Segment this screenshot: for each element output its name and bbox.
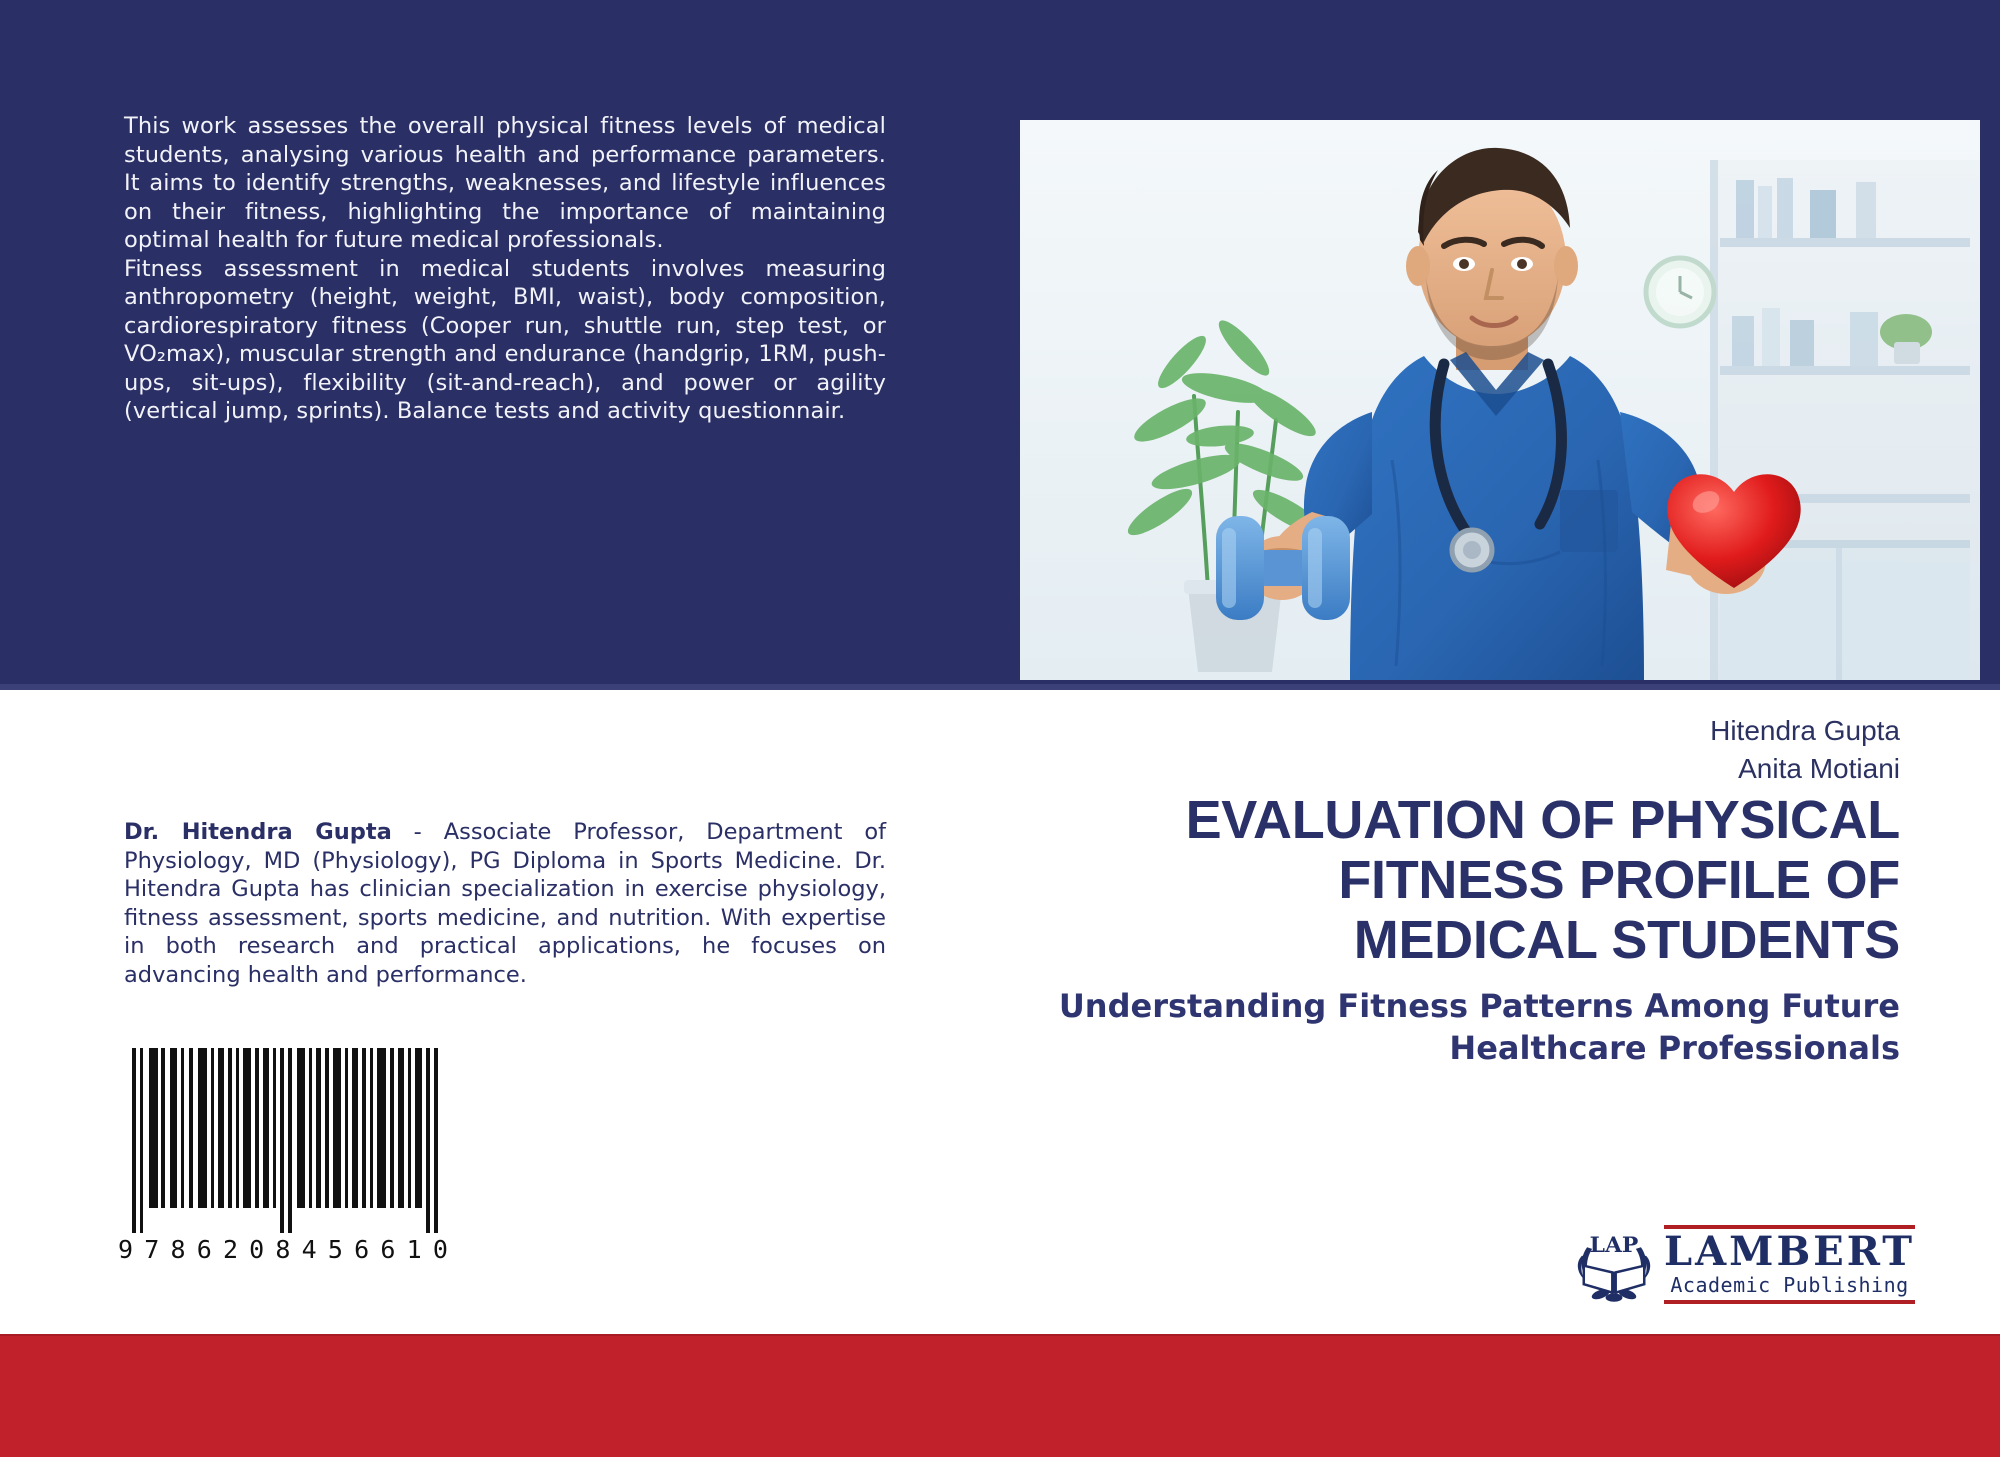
author-bio-paragraph: Dr. Hitendra Gupta - Associate Professor… xyxy=(124,818,886,989)
title-line: EVALUATION OF PHYSICAL xyxy=(980,790,1900,850)
front-cover-authors: Hitendra Gupta Anita Motiani xyxy=(1000,712,1900,788)
bottom-red-band xyxy=(0,1336,2000,1457)
publisher-name: LAMBERT xyxy=(1664,1231,1915,1273)
isbn-digit: 2 xyxy=(223,1235,238,1264)
isbn-digit: 0 xyxy=(249,1235,264,1264)
blurb-paragraph-1: This work assesses the overall physical … xyxy=(124,112,886,255)
barcode-bars xyxy=(118,1048,448,1233)
isbn-digit: 9 xyxy=(118,1235,133,1264)
isbn-digit: 8 xyxy=(275,1235,290,1264)
publisher-wordmark: LAMBERT Academic Publishing xyxy=(1664,1225,1915,1304)
lap-book-laurel-icon: LAP xyxy=(1572,1222,1656,1306)
isbn-digit: 8 xyxy=(170,1235,185,1264)
lap-monogram: LAP xyxy=(1590,1232,1639,1258)
author-bio-name: Dr. Hitendra Gupta xyxy=(124,819,392,845)
book-subtitle: Understanding Fitness Patterns Among Fut… xyxy=(980,985,1900,1069)
subtitle-line: Healthcare Professionals xyxy=(980,1027,1900,1069)
blurb-paragraph-2: Fitness assessment in medical students i… xyxy=(124,255,886,426)
book-cover: This work assesses the overall physical … xyxy=(0,0,2000,1457)
isbn-barcode: 9 7 8 6 2 0 8 4 5 6 6 1 0 xyxy=(118,1048,448,1264)
title-line: FITNESS PROFILE OF xyxy=(980,850,1900,910)
isbn-digit: 7 xyxy=(144,1235,159,1264)
isbn-digit: 5 xyxy=(328,1235,343,1264)
cover-photo xyxy=(1020,120,1980,680)
cover-photo-illustration xyxy=(1020,120,1980,680)
isbn-digit: 1 xyxy=(407,1235,422,1264)
publisher-tagline: Academic Publishing xyxy=(1664,1273,1915,1297)
subtitle-line: Understanding Fitness Patterns Among Fut… xyxy=(980,985,1900,1027)
author-name: Hitendra Gupta xyxy=(1000,712,1900,750)
book-title: EVALUATION OF PHYSICAL FITNESS PROFILE O… xyxy=(980,790,1900,970)
publisher-logo: LAP LAMBERT Academic Publishing xyxy=(1572,1218,1892,1310)
back-cover-blurb: This work assesses the overall physical … xyxy=(124,112,886,426)
author-bio: Dr. Hitendra Gupta - Associate Professor… xyxy=(124,818,886,989)
title-line: MEDICAL STUDENTS xyxy=(980,910,1900,970)
isbn-digits: 9 7 8 6 2 0 8 4 5 6 6 1 0 xyxy=(118,1235,448,1264)
isbn-digit: 0 xyxy=(433,1235,448,1264)
isbn-digit: 6 xyxy=(354,1235,369,1264)
logo-bottom-rule xyxy=(1664,1300,1915,1304)
isbn-digit: 6 xyxy=(380,1235,395,1264)
navy-panel-bottom-edge xyxy=(0,684,2000,690)
isbn-digit: 4 xyxy=(302,1235,317,1264)
isbn-digit: 6 xyxy=(197,1235,212,1264)
author-name: Anita Motiani xyxy=(1000,750,1900,788)
